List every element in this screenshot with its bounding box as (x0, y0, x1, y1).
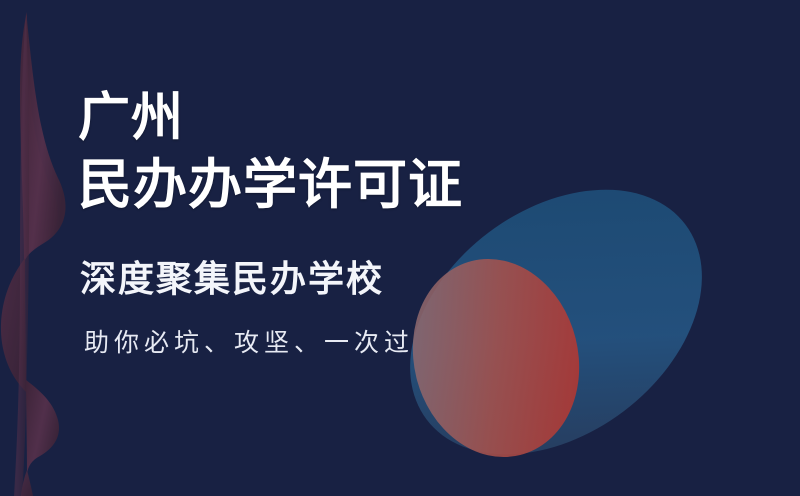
headline-line-2: 民办办学许可证 (78, 152, 463, 218)
left-wave-middle (1, 258, 26, 392)
headline-line-1: 广州 (78, 86, 463, 152)
left-wave-tail (21, 470, 33, 496)
promo-banner: 广州 民办办学许可证 深度聚集民办学校 助你必坑、攻坚、一次过 (0, 0, 800, 496)
banner-tagline: 助你必坑、攻坚、一次过 (84, 326, 414, 360)
banner-content: 广州 民办办学许可证 深度聚集民办学校 助你必坑、攻坚、一次过 (78, 0, 738, 496)
left-wave-sweep (14, 14, 29, 496)
left-wave-bulge-upper (25, 20, 66, 260)
banner-subheadline: 深度聚集民办学校 (80, 258, 384, 302)
banner-headline: 广州 民办办学许可证 (78, 86, 463, 218)
left-wave-lower (26, 380, 59, 474)
left-wave-upper (20, 12, 58, 266)
